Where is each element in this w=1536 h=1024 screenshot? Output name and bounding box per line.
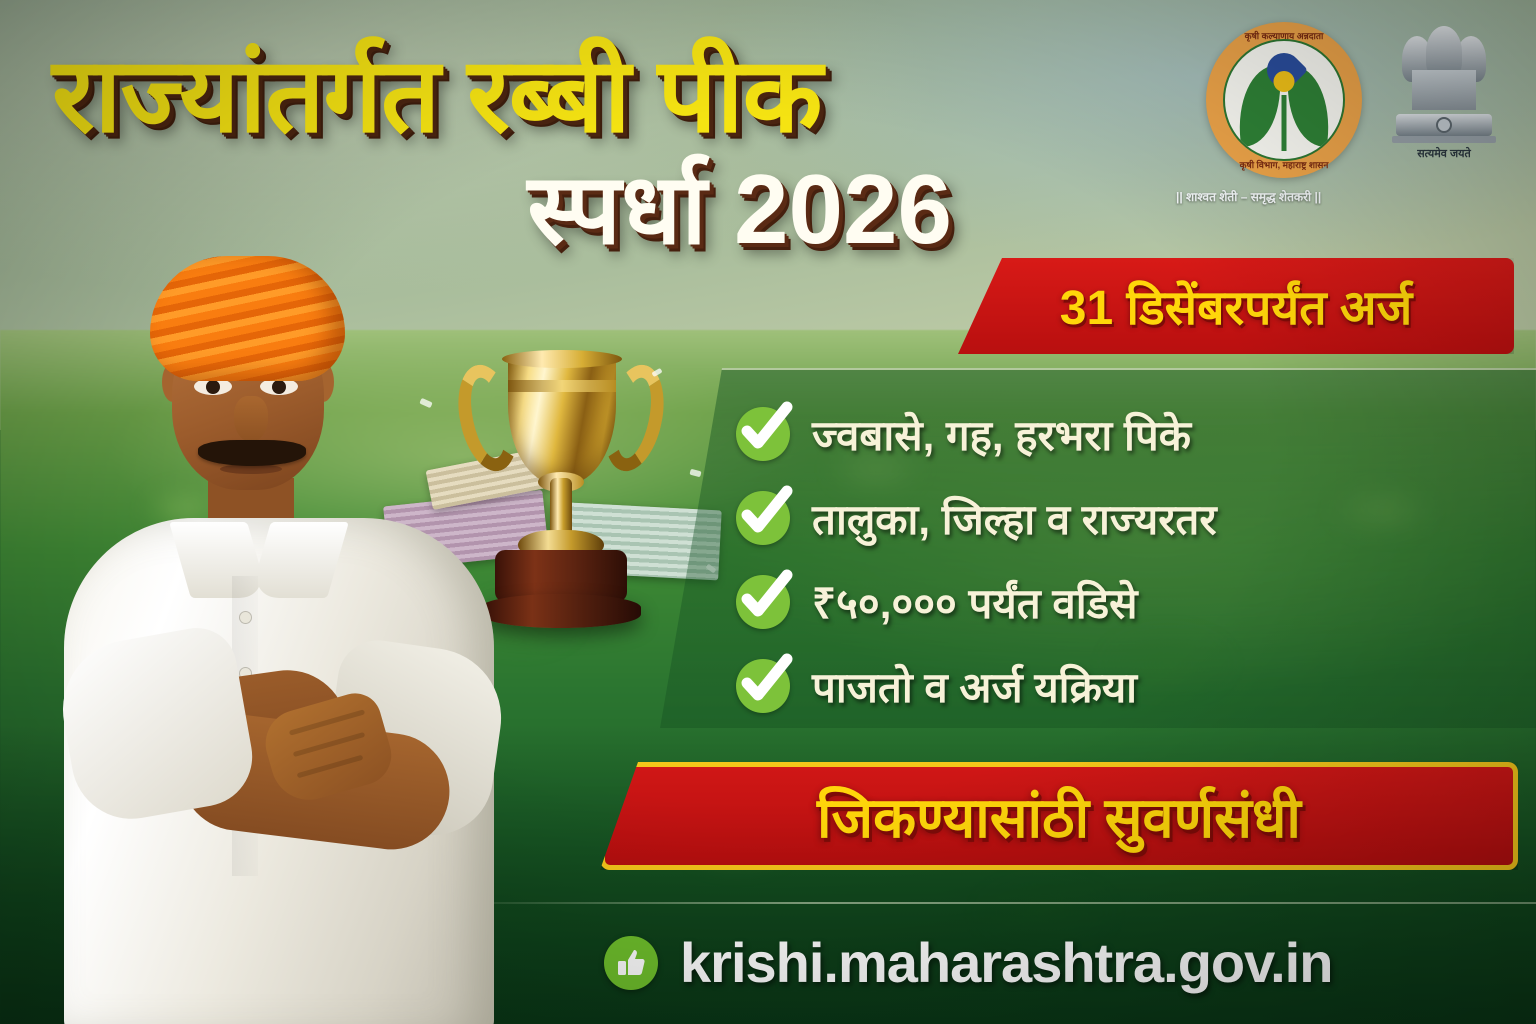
logo-sun — [1274, 71, 1295, 92]
title-line-2: स्पर्धा 2026 — [52, 158, 1062, 261]
check-icon — [736, 659, 790, 713]
bullet-list: ज्वबासे, गह, हरभरा पिके तालुका, जिल्हा व… — [736, 392, 1526, 728]
deadline-banner: 31 डिसेंबरपर्यंत अर्ज — [958, 258, 1514, 354]
logo-inner-disc — [1223, 39, 1345, 161]
farmer-mustache — [198, 440, 306, 466]
list-item-label: ज्वबासे, गह, हरभरा पिके — [812, 406, 1191, 463]
trophy-icon — [456, 338, 666, 648]
ashoka-emblem-logo: सत्यमेव जयते — [1388, 22, 1500, 172]
website-row[interactable]: krishi.maharashtra.gov.in — [604, 930, 1332, 995]
farmer-turban — [150, 256, 345, 381]
agriculture-department-logo: कृषी कल्याणाय अन्नदाता कृषी विभाग, महारा… — [1206, 22, 1362, 178]
list-item: पाजतो व अर्ज यक्रिया — [736, 644, 1526, 728]
website-url-text[interactable]: krishi.maharashtra.gov.in — [680, 930, 1332, 995]
ashoka-chakra-icon — [1436, 117, 1452, 133]
poster-root: राज्यांतर्गत रब्बी पीक स्पर्धा 2026 कृषी… — [0, 0, 1536, 1024]
list-item: तालुका, जिल्हा व राज्यरतर — [736, 476, 1526, 560]
ashoka-capital — [1400, 26, 1488, 114]
logo-stem — [1282, 95, 1287, 151]
agriculture-department-tagline: || शाश्वत शेती – समृद्ध शेतकरी || — [1170, 188, 1500, 205]
confetti-piece — [689, 469, 701, 478]
confetti-piece — [419, 398, 432, 408]
ashoka-lion-body — [1412, 70, 1476, 110]
trophy-stem — [550, 478, 572, 536]
trophy-base-lower — [481, 594, 641, 628]
call-to-action-text: जिकण्यासांठी सुवर्णसंधी — [817, 778, 1301, 854]
list-item: ज्वबासे, गह, हरभरा पिके — [736, 392, 1526, 476]
trophy-rim — [502, 350, 622, 368]
check-icon — [736, 575, 790, 629]
call-to-action-banner: जिकण्यासांठी सुवर्णसंधी — [600, 762, 1518, 870]
trophy-bowl — [508, 356, 616, 484]
divider-line — [420, 902, 1536, 904]
ashoka-motto: सत्यमेव जयते — [1388, 146, 1500, 161]
trophy-band — [508, 380, 616, 392]
farmer-shirt-button — [240, 612, 251, 623]
farmer-nose — [234, 396, 268, 442]
list-item-label: पाजतो व अर्ज यक्रिया — [812, 658, 1137, 715]
list-item-label: तालुका, जिल्हा व राज्यरतर — [812, 490, 1217, 547]
poster-title: राज्यांतर्गत रब्बी पीक स्पर्धा 2026 — [52, 40, 1062, 261]
list-item: ₹५०,००० पर्यंत वडिसे — [736, 560, 1526, 644]
list-item-label: ₹५०,००० पर्यंत वडिसे — [812, 574, 1137, 631]
thumbs-up-icon — [604, 936, 658, 990]
check-icon — [736, 407, 790, 461]
check-icon — [736, 491, 790, 545]
ashoka-plinth — [1392, 136, 1496, 143]
deadline-banner-text: 31 डिसेंबरपर्यंत अर्ज — [1060, 274, 1412, 339]
logo-group: कृषी कल्याणाय अन्नदाता कृषी विभाग, महारा… — [1170, 22, 1500, 205]
title-line-1: राज्यांतर्गत रब्बी पीक — [52, 40, 1062, 152]
